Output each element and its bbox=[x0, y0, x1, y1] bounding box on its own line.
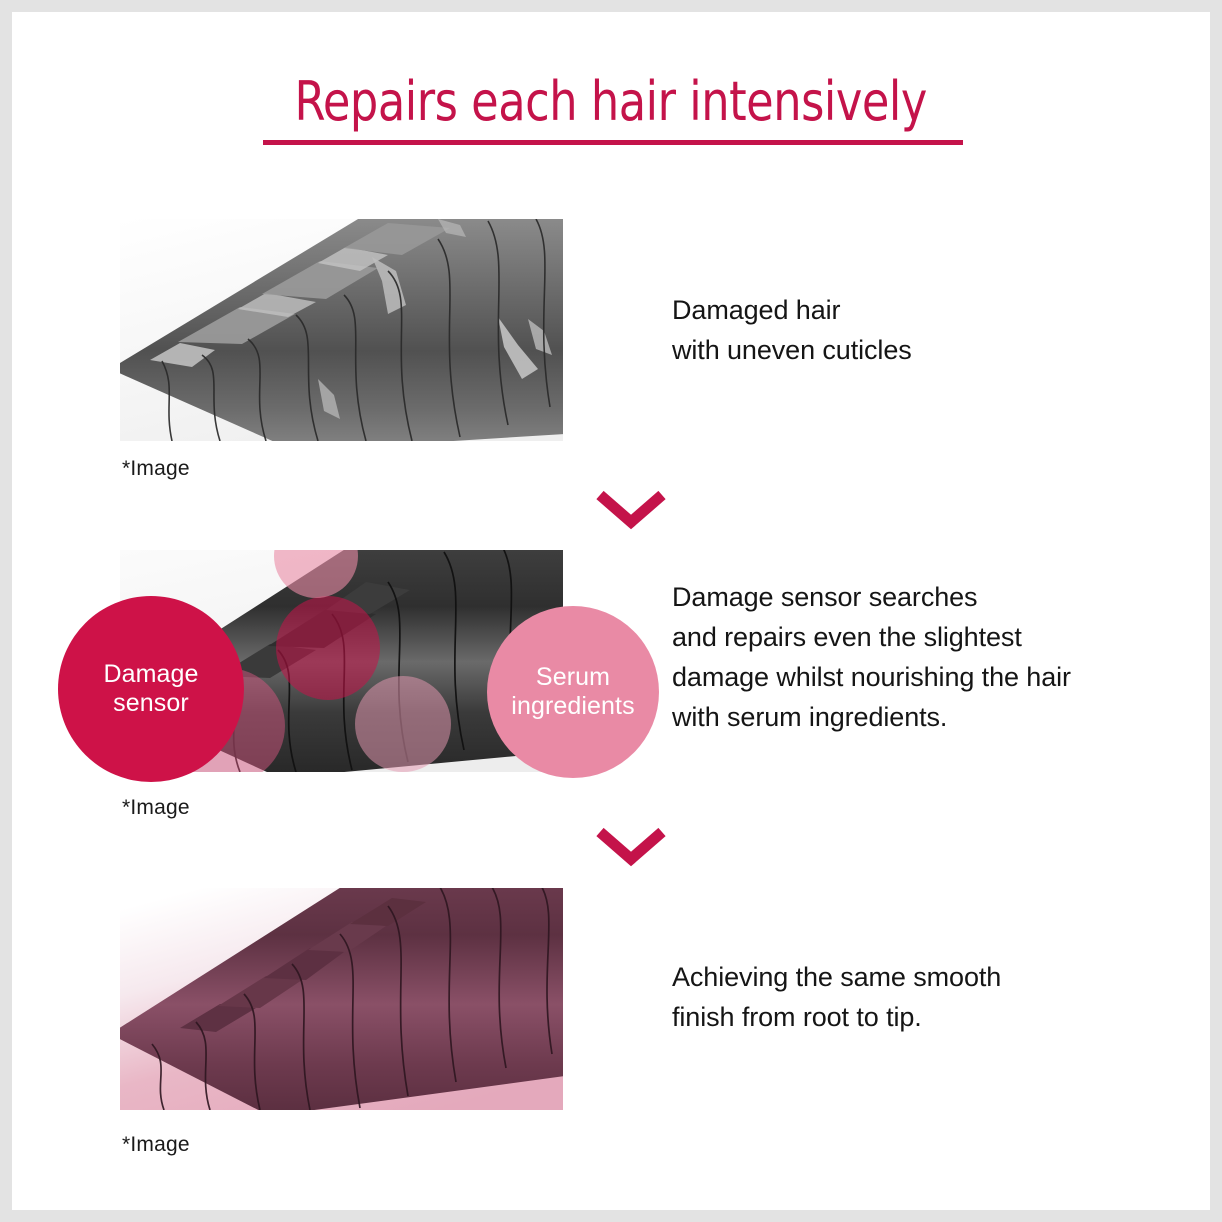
chevron-down-icon bbox=[595, 487, 667, 531]
callout-damage-sensor-label: Damage sensor bbox=[103, 660, 198, 719]
figure-damage-sensor: Damage sensor Serum ingredients bbox=[120, 550, 563, 772]
page-title: Repairs each hair intensively bbox=[295, 74, 927, 131]
figure-smooth-hair bbox=[120, 888, 563, 1110]
step-body-repaired: Achieving the same smooth finish from ro… bbox=[672, 958, 1001, 1038]
title-underline-rule bbox=[263, 140, 963, 145]
step-body-damaged: Damaged hair with uneven cuticles bbox=[672, 291, 912, 371]
chevron-down-icon bbox=[595, 824, 667, 868]
image-disclaimer-label: *Image bbox=[122, 796, 190, 820]
image-disclaimer-label: *Image bbox=[122, 457, 190, 481]
figure-frame bbox=[120, 888, 563, 1110]
callout-serum-ingredients: Serum ingredients bbox=[487, 606, 659, 778]
callout-damage-sensor: Damage sensor bbox=[58, 596, 244, 782]
callout-serum-ingredients-label: Serum ingredients bbox=[511, 663, 634, 722]
page-title-wrapper: Repairs each hair intensively bbox=[12, 74, 1210, 131]
infographic-page: Repairs each hair intensively bbox=[12, 12, 1210, 1210]
smooth-hair-illustration bbox=[120, 888, 563, 1110]
image-disclaimer-label: *Image bbox=[122, 1133, 190, 1157]
step-body-repairing: Damage sensor searches and repairs even … bbox=[672, 578, 1071, 738]
figure-damaged-hair bbox=[120, 219, 563, 441]
damaged-hair-illustration bbox=[120, 219, 563, 441]
figure-frame bbox=[120, 219, 563, 441]
